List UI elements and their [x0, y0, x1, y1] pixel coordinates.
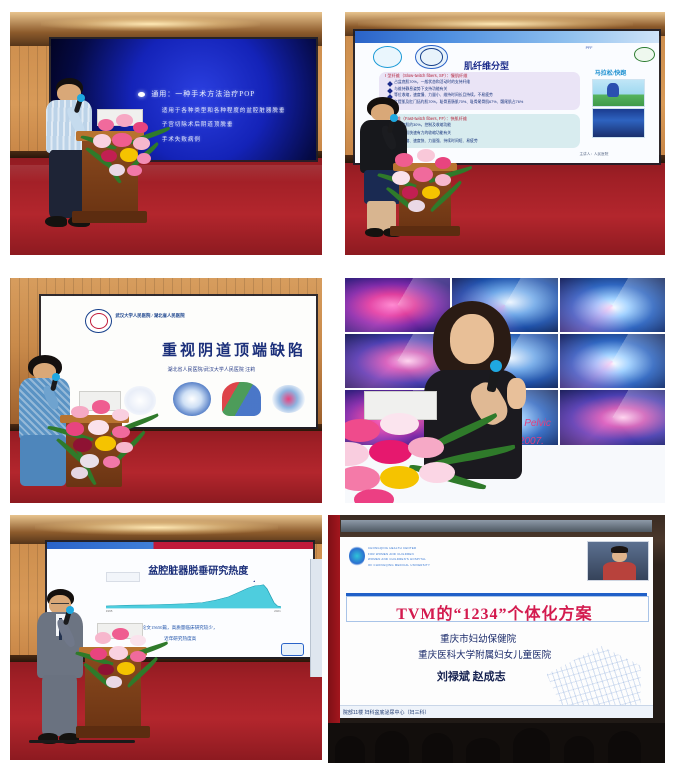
slide-6-logo-line-1: CHONGQING HEALTH CENTER: [368, 546, 416, 550]
slide-2-logo-band: [355, 31, 659, 43]
slide-2-sidebar-title: 马拉松/快跑: [595, 68, 627, 77]
audience-head: [513, 728, 550, 763]
slide-3-diagram-2: [222, 382, 260, 416]
audience-head: [608, 731, 642, 763]
slide-6-logo-line-2: FOR WOMEN AND CHILDREN: [368, 552, 414, 556]
slide-2-block-1-heading: Ⅰ 型纤维（Slow-twitch fibers, SF）：慢肌纤维: [385, 73, 467, 79]
microphone-head-2: [390, 114, 398, 122]
projection-screen-6: CHONGQING HEALTH CENTER FOR WOMEN AND CH…: [340, 537, 653, 718]
flower-bouquet-1: [88, 109, 169, 187]
speaker-5-trousers: [42, 675, 77, 736]
building-watermark: [547, 646, 641, 708]
flower-bouquet-5: [85, 623, 166, 701]
ceiling-light-glow: [41, 17, 259, 32]
slide-6: CHONGQING HEALTH CENTER FOR WOMEN AND CH…: [340, 537, 653, 718]
podium-base-5: [76, 726, 151, 738]
slide-6-logo-line-4: OF CHONGQING MEDICAL UNIVERSITY: [368, 563, 430, 567]
photo-4: Pelvic et, 2007.: [345, 278, 665, 503]
slide-6-org-line-2: 重庆医科大学附属妇女儿童医院: [418, 647, 551, 661]
podium-base-2: [390, 226, 460, 236]
floor-cable: [29, 740, 135, 742]
slide-6-footer-text: 院部11楼 妇科盆底泌尿中心（妇三科）: [343, 709, 430, 716]
slide-5-caption-line-2: 近年研究热度高: [164, 636, 196, 642]
speaker-4-hand-gesture: [507, 378, 527, 409]
flower-bouquet-3: [60, 395, 154, 485]
slide-2-footer: 主讲人：人民医院: [580, 152, 609, 157]
speaker-2-shoe-left: [365, 228, 383, 236]
slide-6-title: TVM的“1234”个体化方案: [396, 600, 592, 624]
flower-bouquet-4: [345, 409, 505, 504]
slide-2-brand-text: PFF: [586, 46, 593, 50]
microphone-head-5: [66, 606, 74, 614]
video-thumbnail-6[interactable]: [587, 541, 649, 581]
slide-3-subtitle: 湖北省人民医院/武汉大学人民医院 汪莉: [167, 366, 255, 373]
slide-1-line-2: 适用于各种类型和各种程度的盆腔脏器脱垂: [162, 106, 286, 114]
audience-head: [375, 731, 409, 763]
video-participant-body: [603, 562, 635, 580]
photo-collage: 通用：一种手术方法治疗POP 适用于各种类型和各种程度的盆腔脏器脱垂 子宫切除术…: [0, 0, 675, 772]
slide-5-top-band: [47, 542, 312, 549]
slide-2-sidebar-image-2: [592, 108, 646, 139]
slide-5-chart-toolbar: [106, 572, 140, 582]
slide-1-line-3: 子宫切除术后阴道顶脱垂: [162, 120, 234, 128]
mri-tile: [560, 278, 665, 332]
audience-head: [564, 736, 594, 763]
society-logo-icon-2: [373, 46, 402, 68]
photo-5: 盆腔脏器脱垂研究热度 1965 2021 ▲ 共检索到POP相关论文15650篇…: [10, 515, 322, 760]
audience-head: [466, 738, 500, 763]
chart-peak-label: ▲: [253, 579, 256, 583]
slide-5-title: 盆腔脏器脱垂研究热度: [148, 562, 248, 577]
slide-2-block-1-bullet-1: 占盆底肌70%，一般状态和活动时的支持纤维: [394, 80, 470, 85]
slide-5-footer-logo-icon: [281, 643, 304, 655]
microphone-head-1: [77, 94, 85, 102]
slide-6-org-line-1: 重庆市妇幼保健院: [440, 631, 516, 645]
photo-2: 肌纤维分型 Ⅰ 型纤维（Slow-twitch fibers, SF）：慢肌纤维…: [345, 12, 665, 255]
flower-bouquet-2: [387, 146, 470, 224]
side-display-panel-5: [310, 559, 322, 677]
hospital-logo-ring-2: [420, 48, 443, 66]
slide-3-org-logo-text: 武汉大学人民医院 / 湖北省人民医院: [115, 313, 184, 319]
photo-3: 武汉大学人民医院 / 湖北省人民医院 重视阴道顶端缺陷 湖北省人民医院/武汉大学…: [10, 278, 322, 503]
ceiling-beam-6: [341, 520, 651, 532]
video-participant-hair: [611, 546, 629, 553]
slide-3-diagram-3: [272, 385, 305, 414]
microphone-head-3: [52, 373, 60, 381]
hospital-logo-mark-6: [349, 546, 365, 566]
ceiling-light-glow-2: [358, 17, 633, 32]
partner-logo-icon-2: [634, 47, 654, 62]
slide-6-logo-line-3: WOMEN AND CHILDREN'S HOSPITAL: [368, 557, 426, 561]
slide-6-authors: 刘禄斌 赵成志: [437, 668, 506, 684]
slide-1-line-1: 通用：一种手术方法治疗POP: [151, 89, 255, 99]
chart-xtick-start: 1965: [106, 609, 113, 613]
speaker-4-head: [450, 314, 494, 364]
speaker-1-shoe-left: [45, 216, 67, 227]
mri-tile: [560, 390, 665, 444]
slide-2-title: 肌纤维分型: [464, 59, 509, 72]
slide-2-runner-figure: [607, 83, 619, 97]
ceiling-light-glow-5: [35, 520, 278, 535]
slide-3-diagram-1: [173, 382, 211, 416]
chart-xtick-end: 2021: [274, 609, 281, 613]
photo-6: CHONGQING HEALTH CENTER FOR WOMEN AND CH…: [328, 515, 665, 763]
podium-base-1: [72, 211, 147, 223]
mri-tile: [560, 334, 665, 388]
slide-5-chart: 1965 2021 ▲: [106, 583, 281, 608]
slide-3-title: 重视阴道顶端缺陷: [162, 339, 306, 360]
audience-head: [422, 733, 452, 763]
audience-head: [335, 736, 365, 763]
photo-1: 通用：一种手术方法治疗POP 适用于各种类型和各种程度的盆腔脏器脱垂 子宫切除术…: [10, 12, 322, 255]
red-curtain-left: [328, 515, 340, 728]
slide-2-block-1-bullet-2: 与维持静息姿势下支持功能有关: [394, 87, 447, 92]
